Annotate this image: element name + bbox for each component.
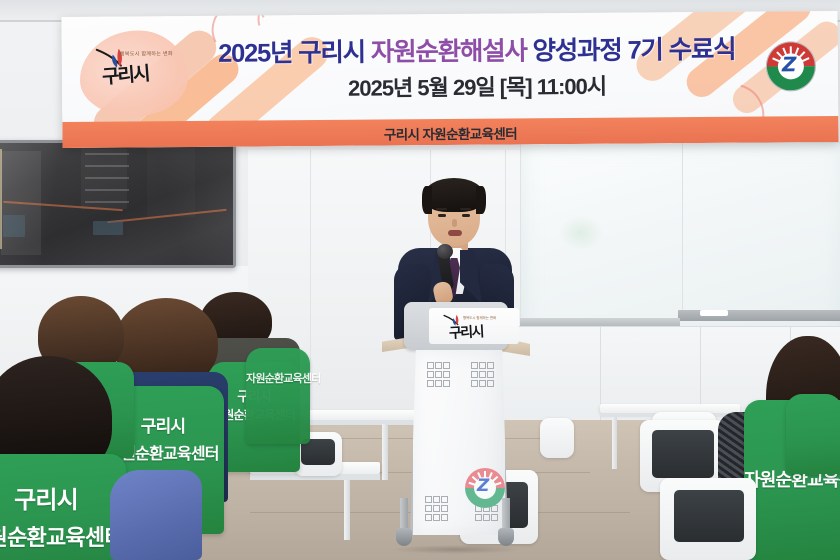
podium-logo-slogan: 행복도시 함께하는 변화 — [463, 315, 496, 320]
whiteboard-seam — [682, 142, 683, 317]
speaker-mouth — [448, 230, 462, 236]
podium-body: Z — [410, 350, 508, 535]
banner-title: 2025년 구리시 자원순환해설사 양성과정 7기 수료식 — [167, 28, 787, 70]
guri-logo-slogan: 행복도시 함께하는 변화 — [120, 50, 173, 57]
microphone-head — [437, 244, 453, 259]
vest-text-line1: 구리시 — [0, 480, 126, 515]
attendee-back-right: 자원순환교육센터 — [246, 300, 318, 450]
banner-subtitle: 2025년 5월 29일 [목] 11:00시 — [167, 67, 787, 104]
chair-center-right — [540, 418, 574, 458]
podium-decor-top-left — [427, 362, 449, 387]
podium-header: 행복도시 함께하는 변화 구리시 — [404, 302, 508, 350]
whiteboard-marker — [700, 310, 728, 316]
attendee-front-left-sleeve — [110, 470, 202, 560]
ceremony-banner: 행복도시 함께하는 변화 구리시 2025년 구리시 자원순환해설사 양성과정 … — [61, 11, 838, 148]
banner-title-part-2: 자원순환해설사 — [371, 37, 527, 66]
podium-caster-right — [498, 528, 514, 546]
speaker-hair — [424, 178, 484, 212]
photo-scene: 행복도시 함께하는 변화 구리시 2025년 구리시 자원순환해설사 양성과정 … — [0, 0, 840, 560]
whiteboard-reflection — [558, 215, 604, 251]
vest-text-partial: 자원순환교육센터 — [246, 370, 310, 386]
vest-far-right — [786, 394, 840, 474]
podium-caster-left — [396, 528, 412, 546]
podium-logo-plate: 행복도시 함께하는 변화 구리시 — [429, 308, 519, 344]
podium-decor-top-right — [471, 362, 493, 387]
podium-logo-wordmark: 구리시 — [448, 321, 483, 343]
vest-text-line2: 자원순환교육센터 — [0, 520, 126, 552]
vest-back-right: 자원순환교육센터 — [246, 348, 310, 444]
guri-logo-wordmark: 구리시 — [101, 59, 149, 90]
wall-display-screen — [0, 140, 236, 268]
banner-title-part-1: 2025년 구리시 — [218, 39, 371, 68]
recycling-center-emblem-banner: Z — [766, 41, 814, 89]
recycling-center-emblem-podium: Z — [465, 468, 505, 508]
banner-title-part-3: 양성과정 7기 수료식 — [527, 36, 736, 66]
vest-front-left: 구리시 자원순환교육센터 — [0, 454, 126, 560]
podium-decor-bottom-left — [425, 496, 447, 521]
whiteboard-tray-left — [520, 318, 680, 326]
podium-shadow — [392, 545, 520, 554]
podium: 행복도시 함께하는 변화 구리시 — [386, 302, 524, 552]
